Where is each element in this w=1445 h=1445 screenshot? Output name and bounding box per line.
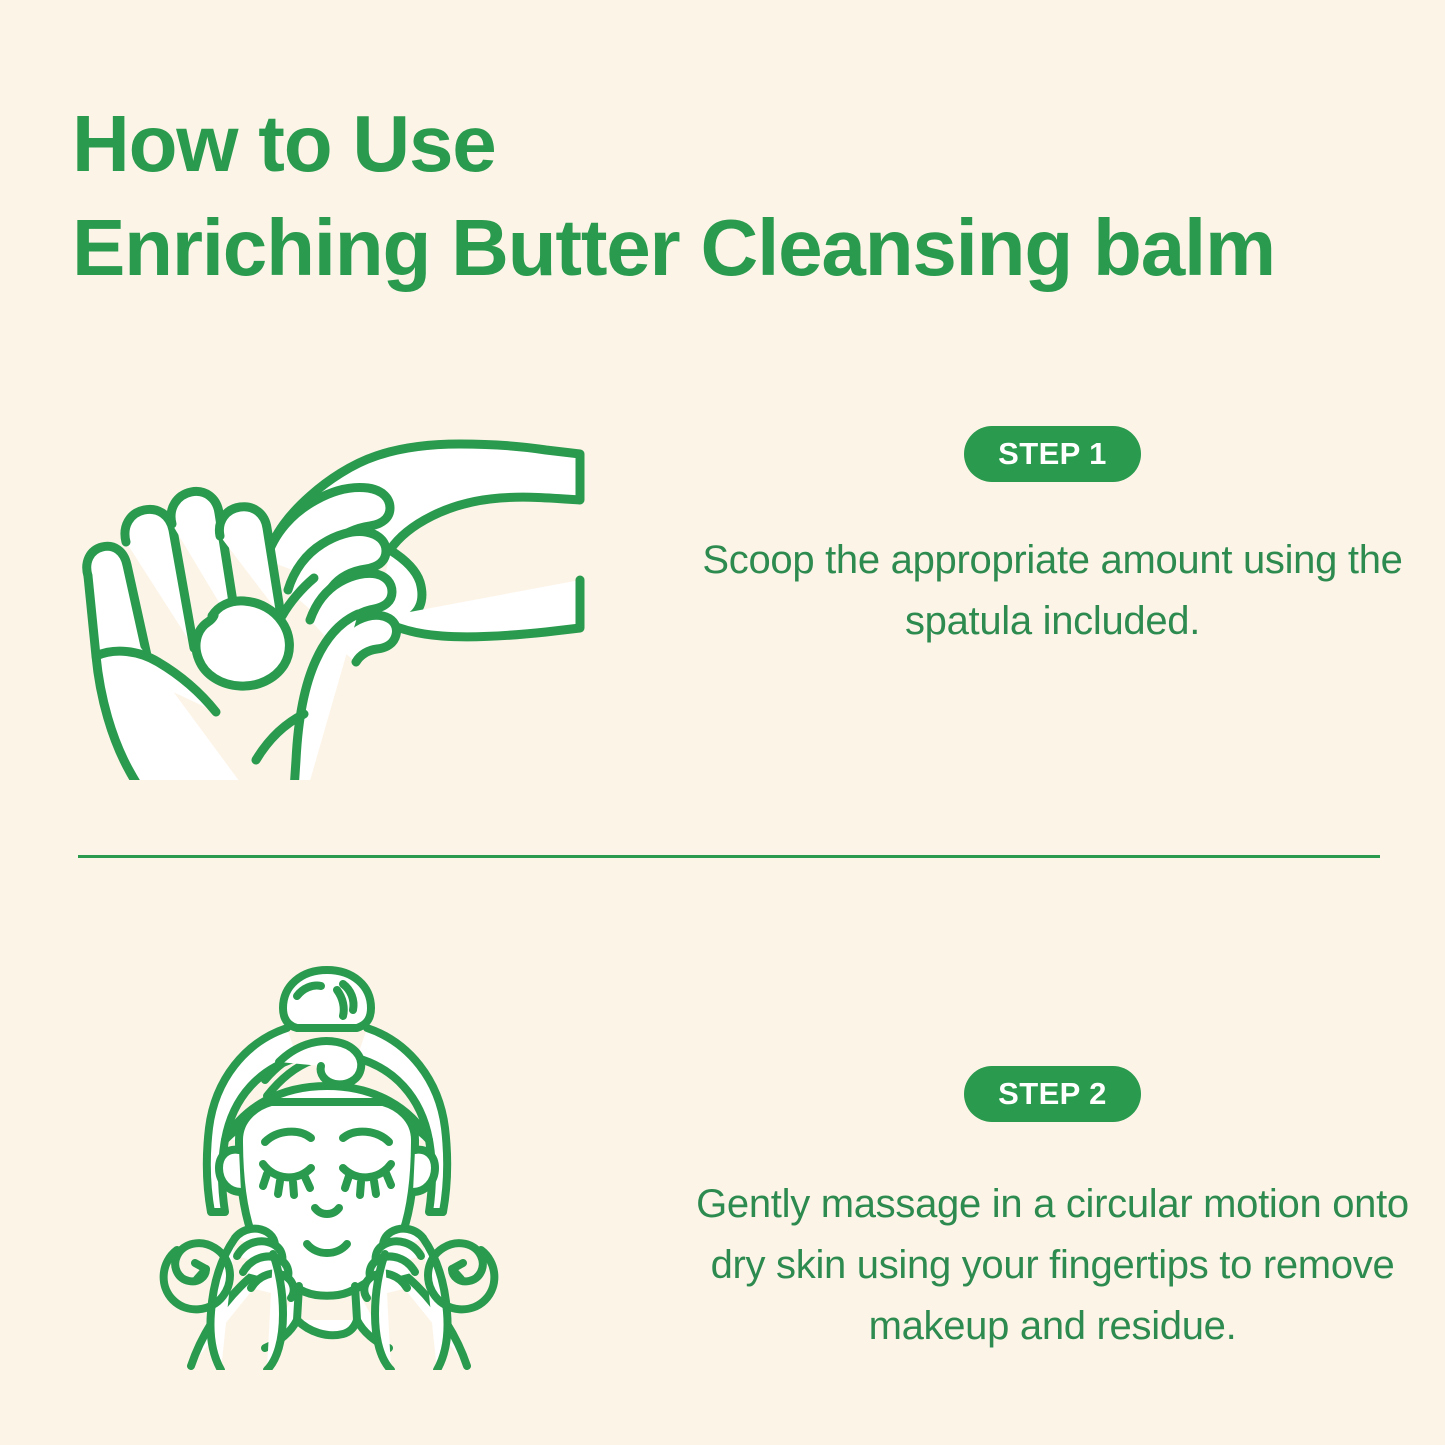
step-1-description: Scoop the appropriate amount using the s…: [683, 530, 1423, 652]
page-title-line-1: How to Use: [72, 92, 1402, 196]
hands-scooping-balm-icon: [60, 420, 600, 780]
step-1-badge: STEP 1: [964, 426, 1141, 482]
page-title-line-2: Enriching Butter Cleansing balm: [72, 196, 1402, 300]
step-2-illustration-column: [0, 950, 660, 1370]
section-divider: [78, 855, 1380, 858]
step-2-row: STEP 2 Gently massage in a circular moti…: [0, 950, 1445, 1380]
step-2-text-column: STEP 2 Gently massage in a circular moti…: [660, 950, 1445, 1356]
step-2-badge: STEP 2: [964, 1066, 1141, 1122]
woman-massaging-face-icon: [115, 950, 545, 1370]
step-1-text-column: STEP 1 Scoop the appropriate amount usin…: [660, 420, 1445, 652]
step-1-row: STEP 1 Scoop the appropriate amount usin…: [0, 420, 1445, 820]
step-2-description: Gently massage in a circular motion onto…: [683, 1174, 1423, 1356]
how-to-use-infographic: How to Use Enriching Butter Cleansing ba…: [0, 0, 1445, 1445]
page-title: How to Use Enriching Butter Cleansing ba…: [72, 92, 1402, 300]
step-1-illustration-column: [0, 420, 660, 780]
